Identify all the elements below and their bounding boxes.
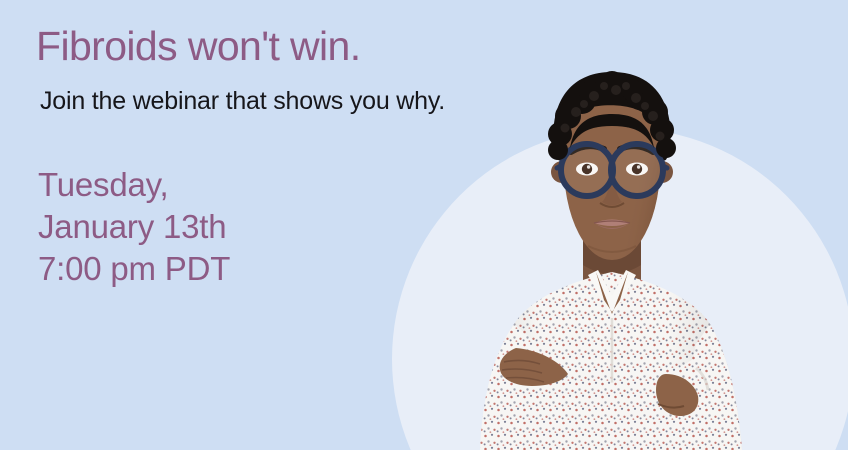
event-date: January 13th [38,206,466,248]
subheading: Join the webinar that shows you why. [40,86,466,116]
page-title: Fibroids won't win. [36,22,466,70]
event-datetime: Tuesday, January 13th 7:00 pm PDT [38,164,466,290]
presenter-photo [470,56,800,450]
event-day: Tuesday, [38,164,466,206]
event-time: 7:00 pm PDT [38,248,466,290]
copy-block: Fibroids won't win. Join the webinar tha… [36,22,466,290]
webinar-promo-banner: Fibroids won't win. Join the webinar tha… [0,0,848,450]
